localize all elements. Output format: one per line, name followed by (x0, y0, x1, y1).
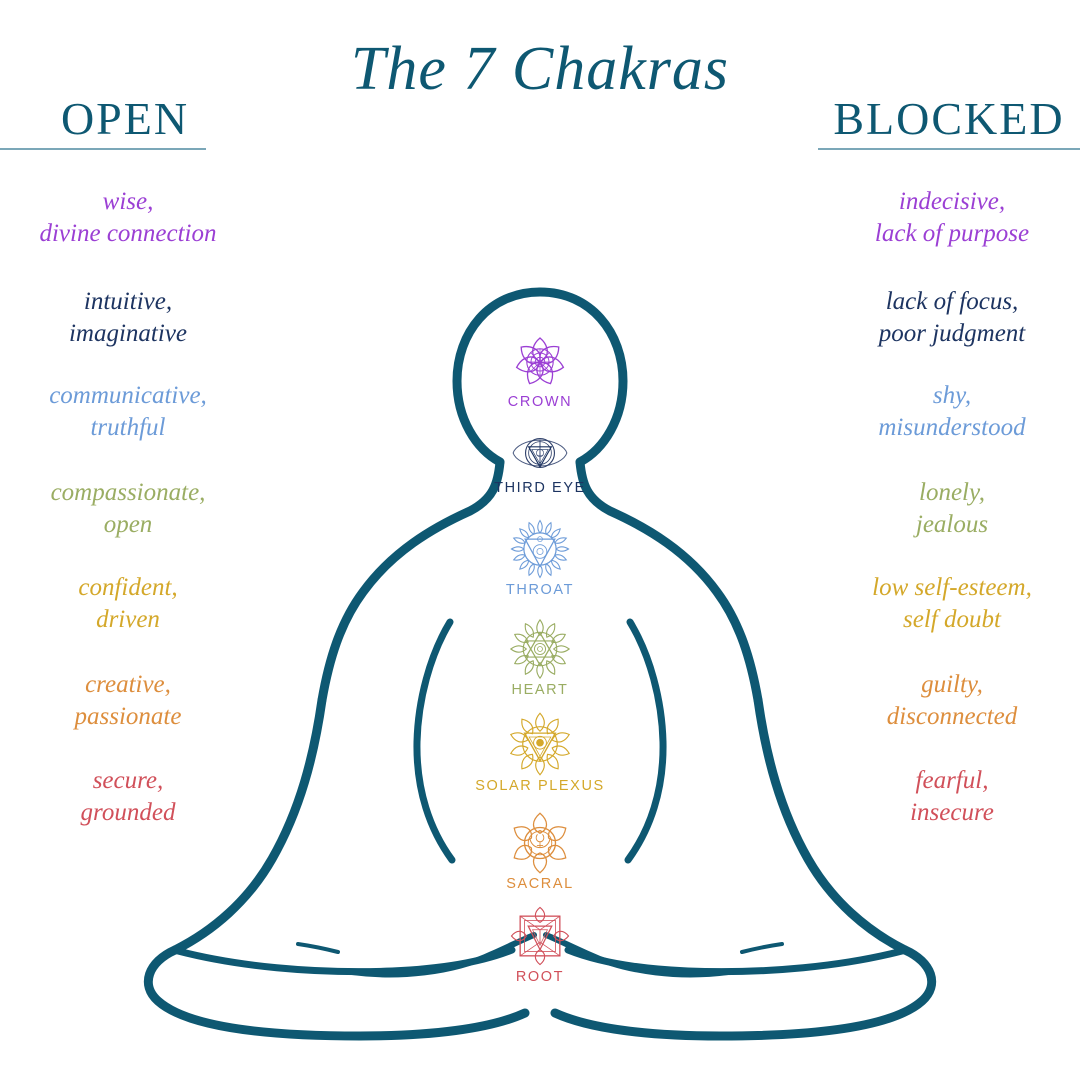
root-square-yantra-icon (509, 905, 571, 967)
chakra-throat[interactable]: THROAT (435, 518, 645, 598)
chakra-label-root: ROOT (435, 969, 645, 985)
chakra-label-crown: CROWN (435, 394, 645, 410)
chakra-solar-plexus[interactable]: SOLAR PLEXUS (435, 712, 645, 794)
open-trait-root: secure, grounded (0, 765, 278, 829)
blocked-trait-crown: indecisive, lack of purpose (802, 186, 1080, 250)
chakra-sacral[interactable]: SACRAL (435, 812, 645, 892)
blocked-trait-root: fearful, insecure (802, 765, 1080, 829)
chakra-label-sacral: SACRAL (435, 876, 645, 892)
blocked-trait-sacral: guilty, disconnected (802, 669, 1080, 733)
chakra-crown[interactable]: CROWN (435, 332, 645, 410)
solar-plexus-ten-petal-icon (508, 712, 572, 776)
crown-lotus-mandala-icon (508, 332, 572, 392)
open-trait-throat: communicative, truthful (0, 380, 278, 444)
chakra-third-eye[interactable]: THIRD EYE (435, 428, 645, 496)
third-eye-two-petal-icon (509, 428, 571, 478)
chakra-label-solar-plexus: SOLAR PLEXUS (435, 778, 645, 794)
chakra-root[interactable]: ROOT (435, 905, 645, 985)
chakra-heart[interactable]: HEART (435, 618, 645, 698)
chakra-infographic: The 7 Chakras OPEN BLOCKED (0, 0, 1080, 1080)
open-trait-third-eye: intuitive, imaginative (0, 286, 278, 350)
heart-hexagram-icon (509, 618, 571, 680)
blocked-trait-heart: lonely, jealous (802, 477, 1080, 541)
chakra-label-throat: THROAT (435, 582, 645, 598)
open-trait-sacral: creative, passionate (0, 669, 278, 733)
blocked-trait-throat: shy, misunderstood (802, 380, 1080, 444)
chakra-label-third-eye: THIRD EYE (435, 480, 645, 496)
throat-sixteen-petal-icon (509, 518, 571, 580)
blocked-trait-solar-plexus: low self-esteem, self doubt (802, 572, 1080, 636)
open-trait-crown: wise, divine connection (0, 186, 278, 250)
blocked-trait-third-eye: lack of focus, poor judgment (802, 286, 1080, 350)
open-trait-solar-plexus: confident, driven (0, 572, 278, 636)
sacral-six-petal-icon (509, 812, 571, 874)
chakra-label-heart: HEART (435, 682, 645, 698)
open-trait-heart: compassionate, open (0, 477, 278, 541)
